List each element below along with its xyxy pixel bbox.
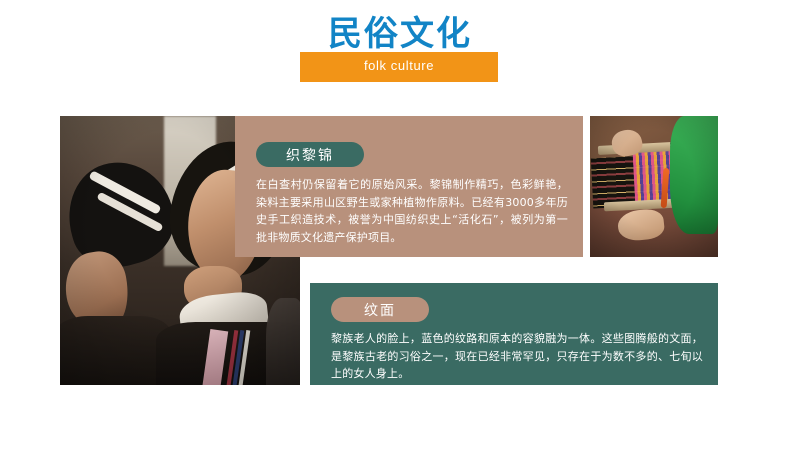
page-subtitle: folk culture (300, 56, 498, 76)
card-wenmian-title: 纹面 (331, 297, 429, 322)
page-header: 民俗文化 folk culture (0, 0, 800, 100)
card-zhilijin: 织黎锦 在白查村仍保留着它的原始风采。黎锦制作精巧，色彩鲜艳，染料主要采用山区野… (235, 116, 583, 257)
card-zhilijin-body: 在白查村仍保留着它的原始风采。黎锦制作精巧，色彩鲜艳，染料主要采用山区野生或家种… (256, 176, 568, 246)
card-zhilijin-title: 织黎锦 (256, 142, 364, 167)
card-wenmian-body: 黎族老人的脸上，蓝色的纹路和原本的容貌融为一体。这些图腾般的文面，是黎族古老的习… (331, 330, 703, 383)
li-brocade-weaving-photo (590, 116, 718, 257)
page-title: 民俗文化 (0, 14, 800, 54)
photo-vignette (590, 116, 718, 257)
card-wenmian: 纹面 黎族老人的脸上，蓝色的纹路和原本的容貌融为一体。这些图腾般的文面，是黎族古… (310, 283, 718, 385)
